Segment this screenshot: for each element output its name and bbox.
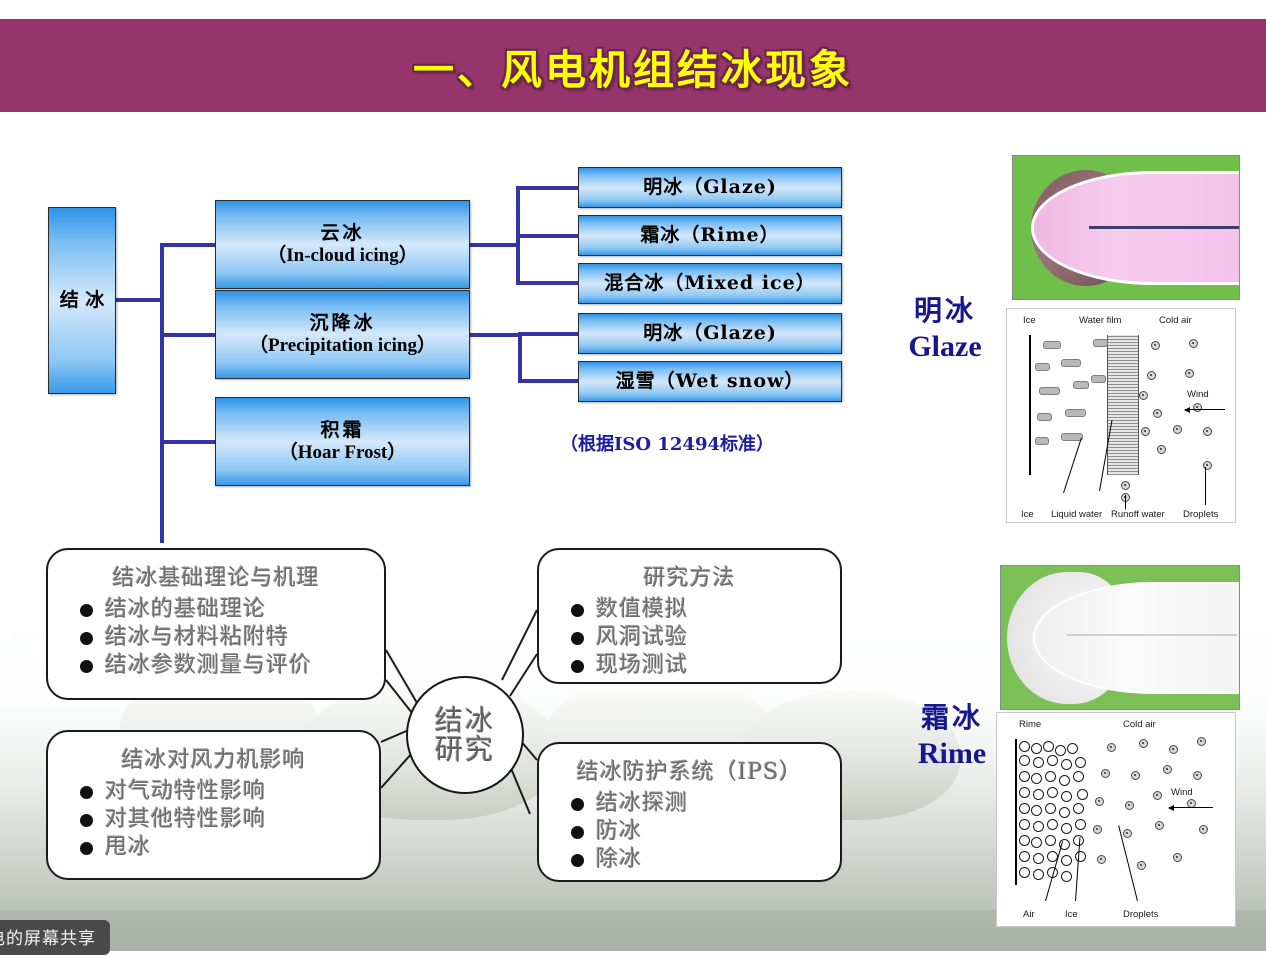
- list-item: 结冰的基础理论: [80, 596, 370, 624]
- box-label-cn: 沉降冰: [309, 313, 375, 335]
- droplet: [1157, 445, 1166, 454]
- list-item: 结冰参数测量与评价: [80, 652, 370, 680]
- droplet: [1169, 745, 1178, 754]
- box-hoar-frost: 积霜 （Hoar Frost）: [215, 397, 470, 486]
- bullet-icon: [80, 786, 93, 799]
- connector-line: [160, 440, 217, 444]
- slide-title-banner: 一、风电机组结冰现象: [0, 19, 1266, 112]
- ice-flake: [1043, 341, 1061, 349]
- ice-flake: [1073, 381, 1089, 389]
- list-item-label: 结冰参数测量与评价: [105, 652, 312, 680]
- schematic-glaze: Ice Water film Cold air Wind Ice Liquid …: [1006, 308, 1236, 523]
- ice-flake: [1039, 387, 1060, 395]
- connector-line: [160, 243, 164, 543]
- bullet-icon: [80, 604, 93, 617]
- box-glaze-in-cloud: 明冰（Glaze): [578, 167, 842, 208]
- box-in-cloud-icing: 云冰 （In-cloud icing）: [215, 200, 470, 289]
- droplet: [1151, 341, 1160, 350]
- ice-flake: [1091, 375, 1106, 383]
- icing-taxonomy-diagram: 结 冰 云冰 （In-cloud icing） 沉降冰 （Precipitati…: [0, 130, 880, 510]
- box-label: 霜冰（Rime）: [640, 225, 779, 247]
- bullet-icon: [80, 814, 93, 827]
- callout-icing-effects: 结冰对风力机影响 对气动特性影响 对其他特性影响 甩冰: [46, 730, 381, 880]
- droplet: [1155, 821, 1164, 830]
- schem-label-droplets: Droplets: [1183, 509, 1218, 520]
- label-glaze: 明冰 Glaze: [885, 293, 1005, 366]
- list-item-label: 数值模拟: [596, 596, 688, 624]
- box-precipitation-icing: 沉降冰 （Precipitation icing）: [215, 290, 470, 379]
- schem-label-wind: Wind: [1187, 389, 1209, 400]
- schem-label-ice-top: Ice: [1023, 315, 1036, 326]
- connector-line: [160, 333, 217, 337]
- surface-wall: [1029, 335, 1031, 475]
- box-label-cn: 积霜: [320, 420, 364, 442]
- photo-glaze-blade: [1012, 155, 1240, 300]
- water-film: [1107, 335, 1139, 475]
- connector-line: [470, 333, 522, 337]
- list-item-label: 对其他特性影响: [105, 806, 266, 834]
- callout-research-methods: 研究方法 数值模拟 风洞试验 现场测试: [537, 548, 842, 684]
- bullet-icon: [571, 632, 584, 645]
- iso-standard-note: （根据ISO 12494标准）: [560, 430, 774, 456]
- droplet: [1141, 427, 1150, 436]
- connector-line: [470, 243, 520, 247]
- list-item: 防冰: [571, 818, 826, 846]
- wind-arrow-icon: [1185, 409, 1225, 410]
- ice-flake: [1037, 413, 1052, 421]
- bullet-icon: [571, 604, 584, 617]
- schem-label-ice: Ice: [1065, 909, 1078, 920]
- box-wet-snow: 湿雪（Wet snow）: [578, 361, 842, 402]
- bullet-icon: [80, 842, 93, 855]
- box-mixed-ice: 混合冰（Mixed ice）: [578, 263, 842, 304]
- box-label-en: （Hoar Frost）: [279, 442, 407, 464]
- list-item: 除冰: [571, 846, 826, 874]
- label-rime-en: Rime: [892, 735, 1012, 773]
- bullet-icon: [80, 632, 93, 645]
- pointer-line: [1205, 467, 1206, 505]
- box-label-en: （In-cloud icing）: [267, 245, 417, 267]
- callout-icing-theory: 结冰基础理论与机理 结冰的基础理论 结冰与材料粘附特 结冰参数测量与评价: [46, 548, 386, 700]
- droplet: [1173, 425, 1182, 434]
- bullet-icon: [80, 660, 93, 673]
- callout-list: 结冰探测 防冰 除冰: [553, 790, 826, 874]
- pointer-line: [1125, 495, 1126, 509]
- list-item-label: 结冰探测: [596, 790, 688, 818]
- connector-line: [516, 186, 580, 190]
- list-item: 结冰探测: [571, 790, 826, 818]
- droplet: [1095, 797, 1104, 806]
- box-glaze-precipitation: 明冰（Glaze): [578, 313, 842, 354]
- droplet: [1199, 825, 1208, 834]
- connector-line: [516, 234, 580, 238]
- droplet: [1107, 743, 1116, 752]
- droplet: [1097, 855, 1106, 864]
- blade-seam: [1089, 226, 1239, 229]
- box-label: 明冰（Glaze): [643, 323, 777, 345]
- bullet-icon: [571, 854, 584, 867]
- list-item-label: 风洞试验: [596, 624, 688, 652]
- droplet: [1185, 369, 1194, 378]
- list-item: 甩冰: [80, 834, 365, 862]
- label-glaze-cn: 明冰: [885, 293, 1005, 328]
- schem-label-air: Air: [1023, 909, 1035, 920]
- bullet-icon: [571, 798, 584, 811]
- droplet: [1173, 853, 1182, 862]
- list-item-label: 除冰: [596, 846, 642, 874]
- droplet: [1147, 371, 1156, 380]
- box-rime: 霜冰（Rime）: [578, 215, 842, 256]
- bullet-icon: [571, 660, 584, 673]
- mindmap-hub: 结冰 研究: [406, 676, 524, 794]
- screen-share-badge: 电的屏幕共享: [0, 920, 110, 955]
- connector-line: [160, 243, 217, 247]
- droplet: [1137, 861, 1146, 870]
- box-icing-root: 结 冰: [48, 207, 116, 394]
- schem-label-droplets: Droplets: [1123, 909, 1158, 920]
- surface-wall: [1015, 739, 1017, 885]
- droplet: [1189, 339, 1198, 348]
- callout-list: 对气动特性影响 对其他特性影响 甩冰: [62, 778, 365, 862]
- hub-label-line1: 结冰: [435, 706, 495, 735]
- droplet: [1101, 769, 1110, 778]
- connector-line: [518, 332, 580, 336]
- droplet: [1139, 739, 1148, 748]
- callout-ice-protection-system: 结冰防护系统（IPS） 结冰探测 防冰 除冰: [537, 742, 842, 882]
- pointer-line: [1075, 837, 1080, 901]
- bullet-icon: [571, 826, 584, 839]
- schem-label-runoff-water: Runoff water: [1111, 509, 1165, 520]
- droplet: [1203, 427, 1212, 436]
- box-label: 结 冰: [60, 290, 105, 312]
- ice-flake: [1093, 339, 1108, 347]
- ice-flake: [1035, 363, 1050, 371]
- droplet: [1153, 409, 1162, 418]
- droplet: [1139, 391, 1148, 400]
- schem-label-rime: Rime: [1019, 719, 1041, 730]
- droplet: [1123, 829, 1132, 838]
- droplet: [1131, 771, 1140, 780]
- droplet: [1193, 771, 1202, 780]
- list-item: 风洞试验: [571, 624, 826, 652]
- box-label: 明冰（Glaze): [643, 177, 777, 199]
- schem-label-cold-air: Cold air: [1123, 719, 1156, 730]
- droplet: [1093, 825, 1102, 834]
- connector-line: [516, 281, 580, 285]
- label-rime: 霜冰 Rime: [892, 700, 1012, 773]
- connector-line: [518, 332, 522, 380]
- callout-title: 研究方法: [553, 560, 826, 592]
- callout-title: 结冰防护系统（IPS）: [553, 754, 826, 786]
- list-item-label: 甩冰: [105, 834, 151, 862]
- runoff-droplet: [1121, 481, 1130, 490]
- schem-label-liquid-water: Liquid water: [1051, 509, 1102, 520]
- schem-label-cold-air: Cold air: [1159, 315, 1192, 326]
- list-item: 数值模拟: [571, 596, 826, 624]
- droplet: [1197, 737, 1206, 746]
- list-item-label: 防冰: [596, 818, 642, 846]
- droplet: [1193, 403, 1202, 412]
- list-item: 结冰与材料粘附特: [80, 624, 370, 652]
- page-title: 一、风电机组结冰现象: [413, 36, 853, 96]
- callout-title: 结冰基础理论与机理: [62, 560, 370, 592]
- connector-line: [116, 298, 164, 302]
- photo-rime-blade: [1000, 565, 1240, 710]
- list-item-label: 结冰与材料粘附特: [105, 624, 289, 652]
- droplet: [1125, 801, 1134, 810]
- list-item: 对其他特性影响: [80, 806, 365, 834]
- list-item-label: 对气动特性影响: [105, 778, 266, 806]
- callout-list: 数值模拟 风洞试验 现场测试: [553, 596, 826, 680]
- schem-label-ice-bottom: Ice: [1021, 509, 1034, 520]
- blade-seam: [1067, 634, 1237, 636]
- label-glaze-en: Glaze: [885, 328, 1005, 366]
- label-rime-cn: 霜冰: [892, 700, 1012, 735]
- box-label-en: （Precipitation icing）: [249, 335, 436, 357]
- droplet: [1163, 765, 1172, 774]
- pointer-line: [1063, 438, 1082, 493]
- box-label-cn: 云冰: [320, 223, 364, 245]
- droplet: [1153, 791, 1162, 800]
- schematic-rime: Rime Cold air Wind Air Ice Droplets: [996, 712, 1236, 927]
- schem-label-wind: Wind: [1171, 787, 1193, 798]
- ice-flake: [1061, 359, 1081, 367]
- hub-label-line2: 研究: [435, 735, 495, 764]
- box-label: 湿雪（Wet snow）: [616, 371, 805, 393]
- ice-flake: [1065, 409, 1086, 417]
- connector-line: [518, 379, 580, 383]
- callout-title: 结冰对风力机影响: [62, 742, 365, 774]
- callout-list: 结冰的基础理论 结冰与材料粘附特 结冰参数测量与评价: [62, 596, 370, 680]
- list-item: 现场测试: [571, 652, 826, 680]
- box-label: 混合冰（Mixed ice）: [604, 273, 815, 295]
- list-item-label: 现场测试: [596, 652, 688, 680]
- list-item-label: 结冰的基础理论: [105, 596, 266, 624]
- ice-flake: [1035, 437, 1049, 445]
- list-item: 对气动特性影响: [80, 778, 365, 806]
- schem-label-water-film: Water film: [1079, 315, 1121, 326]
- wind-arrow-icon: [1169, 807, 1213, 808]
